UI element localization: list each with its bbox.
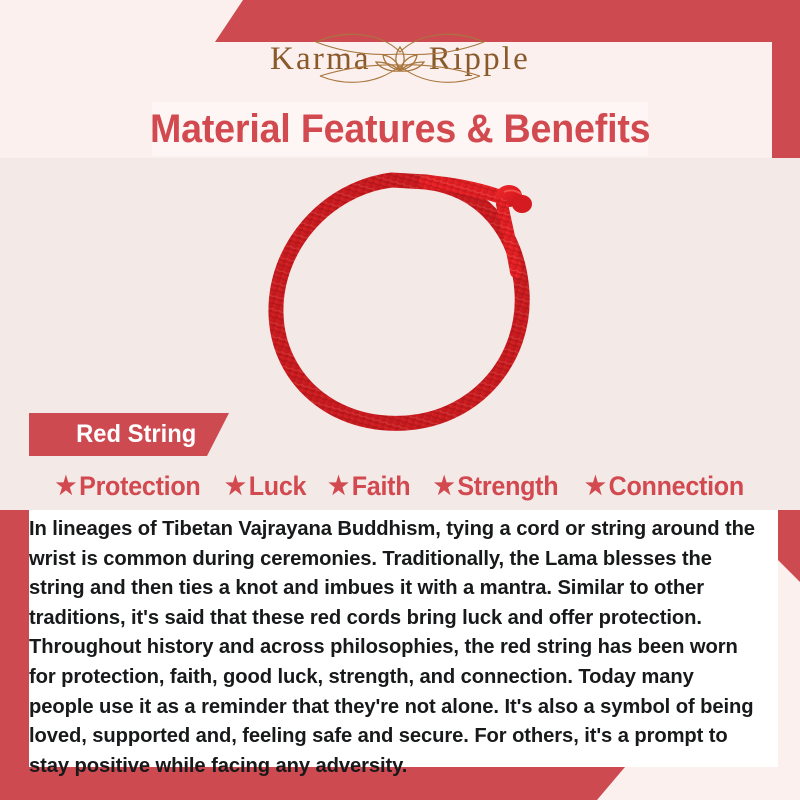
brand-name-right: Ripple (429, 43, 530, 76)
star-icon: ★ (55, 474, 76, 499)
page-title: Material Features & Benefits (150, 107, 650, 152)
bracelet-product-image (230, 152, 570, 452)
feature-label: Protection (79, 471, 200, 502)
feature-label: Strength (458, 471, 559, 502)
bracelet-knot (496, 185, 532, 272)
feature-label: Connection (609, 471, 744, 502)
hero-panel (0, 158, 800, 510)
title-banner: Material Features & Benefits (152, 102, 648, 156)
star-icon: ★ (225, 474, 246, 499)
feature-item-protection: ★ Protection (55, 471, 200, 502)
feature-item-connection: ★ Connection (585, 471, 744, 502)
description-text: In lineages of Tibetan Vajrayana Buddhis… (29, 514, 757, 780)
feature-item-strength: ★ Strength (434, 471, 559, 502)
feature-item-luck: ★ Luck (225, 471, 306, 502)
material-label-text: Red String (76, 420, 196, 449)
material-label-ribbon: Red String (29, 413, 229, 456)
star-icon: ★ (328, 474, 349, 499)
lotus-icon (371, 39, 429, 79)
feature-list: ★ Protection ★ Luck ★ Faith ★ Strength ★… (0, 463, 800, 510)
feature-item-faith: ★ Faith (328, 471, 410, 502)
brand-name-left: Karma (270, 43, 371, 76)
star-icon: ★ (585, 474, 606, 499)
description-panel: In lineages of Tibetan Vajrayana Buddhis… (29, 510, 778, 767)
brand-logo: Karma Ripple (0, 26, 800, 92)
feature-label: Luck (248, 471, 306, 502)
feature-label: Faith (352, 471, 411, 502)
star-icon: ★ (434, 474, 455, 499)
